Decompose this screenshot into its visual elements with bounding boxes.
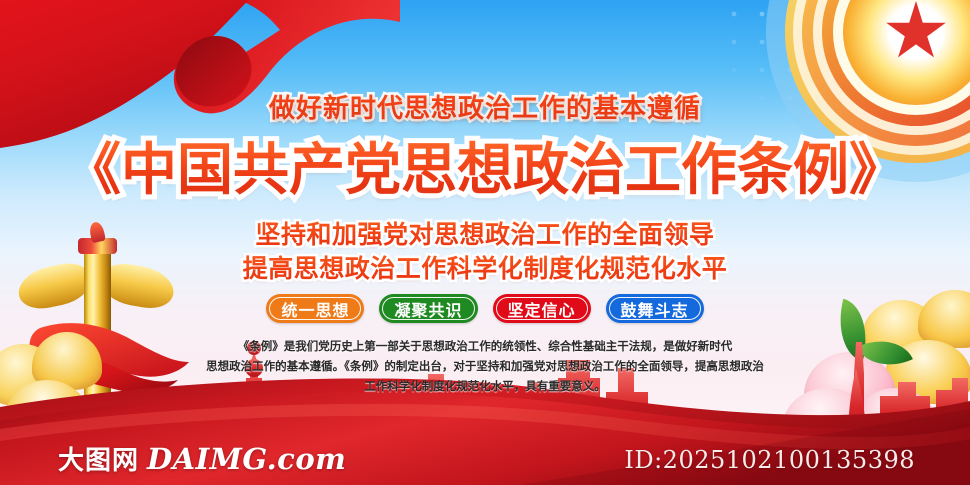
poster-content: 做好新时代思想政治工作的基本遵循 做好新时代思想政治工作的基本遵循 《中国共产党… (0, 0, 970, 485)
slogan-pill-4[interactable]: 鼓舞斗志 (606, 294, 704, 323)
slogan-pill-2[interactable]: 凝聚共识 (379, 294, 477, 323)
main-title-fill: 《中国共产党思想政治工作条例》 (0, 136, 970, 206)
subtitle-group: 坚持和加强党对思想政治工作的全面领导 坚持和加强党对思想政治工作的全面领导 提高… (0, 218, 970, 286)
slogan-pill-row: 统一思想凝聚共识坚定信心鼓舞斗志 (0, 294, 970, 323)
slogan-pill-label: 统一思想 (281, 297, 349, 321)
watermark-en: DAIMG.com (147, 442, 346, 476)
watermark: 大图网 DAIMG.com (58, 440, 346, 477)
slogan-pill-label: 坚定信心 (508, 297, 576, 321)
poster-canvas: 做好新时代思想政治工作的基本遵循 做好新时代思想政治工作的基本遵循 《中国共产党… (0, 0, 970, 485)
slogan-pill-label: 凝聚共识 (394, 297, 462, 321)
subtitle-2-fill: 提高思想政治工作科学化制度化规范化水平 (0, 252, 970, 286)
subtitle-1-fill: 坚持和加强党对思想政治工作的全面领导 (0, 218, 970, 252)
watermark-cn: 大图网 (58, 440, 139, 477)
slogan-pill-1[interactable]: 统一思想 (266, 294, 364, 323)
subtitle-line-1: 坚持和加强党对思想政治工作的全面领导 坚持和加强党对思想政治工作的全面领导 (0, 218, 970, 252)
slogan-pill-label: 鼓舞斗志 (621, 297, 689, 321)
body-line-1: 《条例》是我们党历史上第一部关于思想政治工作的统领性、综合性基础主干法规，是做好… (95, 336, 875, 356)
body-paragraph: 《条例》是我们党历史上第一部关于思想政治工作的统领性、综合性基础主干法规，是做好… (95, 336, 875, 396)
image-id-label: ID:2025102100135398 (624, 446, 915, 474)
slogan-pill-3[interactable]: 坚定信心 (493, 294, 591, 323)
subtitle-line-2: 提高思想政治工作科学化制度化规范化水平 提高思想政治工作科学化制度化规范化水平 (0, 252, 970, 286)
body-line-2: 思想政治工作的基本遵循。《条例》的制定出台，对于坚持和加强党对思想政治工作的全面… (95, 356, 875, 376)
poster-headline: 做好新时代思想政治工作的基本遵循 (0, 88, 970, 125)
main-title: 《中国共产党思想政治工作条例》 《中国共产党思想政治工作条例》 (0, 136, 970, 206)
body-line-3: 工作科学化制度化规范化水平，具有重要意义。 (95, 376, 875, 396)
